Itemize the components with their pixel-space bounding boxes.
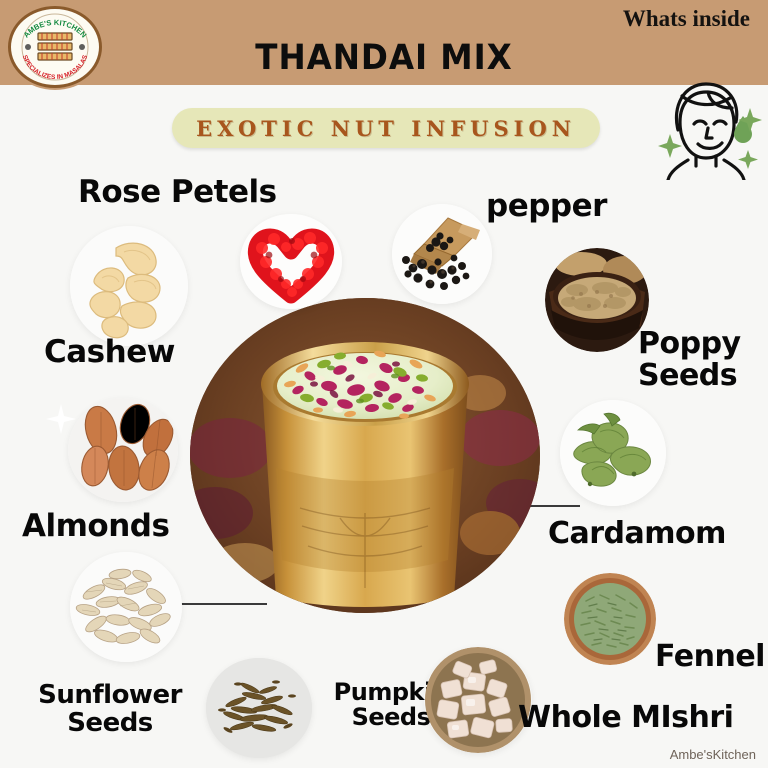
glowing-face-icon: [648, 72, 764, 180]
ingredient-image-pepper: [392, 204, 492, 304]
subtitle-text: EXOTIC NUT INFUSION: [196, 116, 576, 141]
ingredient-image-almonds: [68, 398, 178, 502]
poster-canvas: AMBE'S KITCHEN SPECIALIZES IN MASALAS TH…: [0, 0, 768, 768]
ingredient-image-cardamom: [560, 400, 666, 506]
watermark: Ambe'sKitchen: [670, 747, 756, 762]
label-cardamom: Cardamom: [548, 518, 726, 550]
sparkle-icon-almonds: [44, 402, 78, 441]
label-cashew: Cashew: [44, 336, 175, 369]
ingredient-image-fennel: [564, 573, 656, 665]
label-poppy-seeds: Poppy Seeds: [638, 328, 741, 392]
ingredient-image-pumpkin-seeds: [206, 658, 312, 758]
ingredient-image-poppy-seeds: [545, 248, 649, 352]
label-whole-mishri: Whole MIshri: [518, 702, 733, 734]
ingredient-image-whole-mishri: [424, 647, 532, 753]
label-sunflower-seeds: Sunflower Seeds: [30, 682, 190, 737]
ingredient-image-rose-petels: [240, 214, 342, 309]
ingredient-image-cashew: [70, 226, 188, 346]
label-rose-petels: Rose Petels: [78, 176, 277, 209]
label-almonds: Almonds: [22, 510, 169, 543]
page-title: THANDAI MIX: [27, 38, 741, 78]
label-pepper: pepper: [486, 190, 607, 223]
thandai-glass-hero: [190, 298, 540, 613]
ingredient-image-sunflower-seeds: [70, 552, 182, 662]
subtitle-pill: EXOTIC NUT INFUSION: [172, 108, 600, 148]
whats-inside-label: Whats inside: [623, 6, 750, 32]
label-fennel: Fennel: [655, 641, 765, 673]
